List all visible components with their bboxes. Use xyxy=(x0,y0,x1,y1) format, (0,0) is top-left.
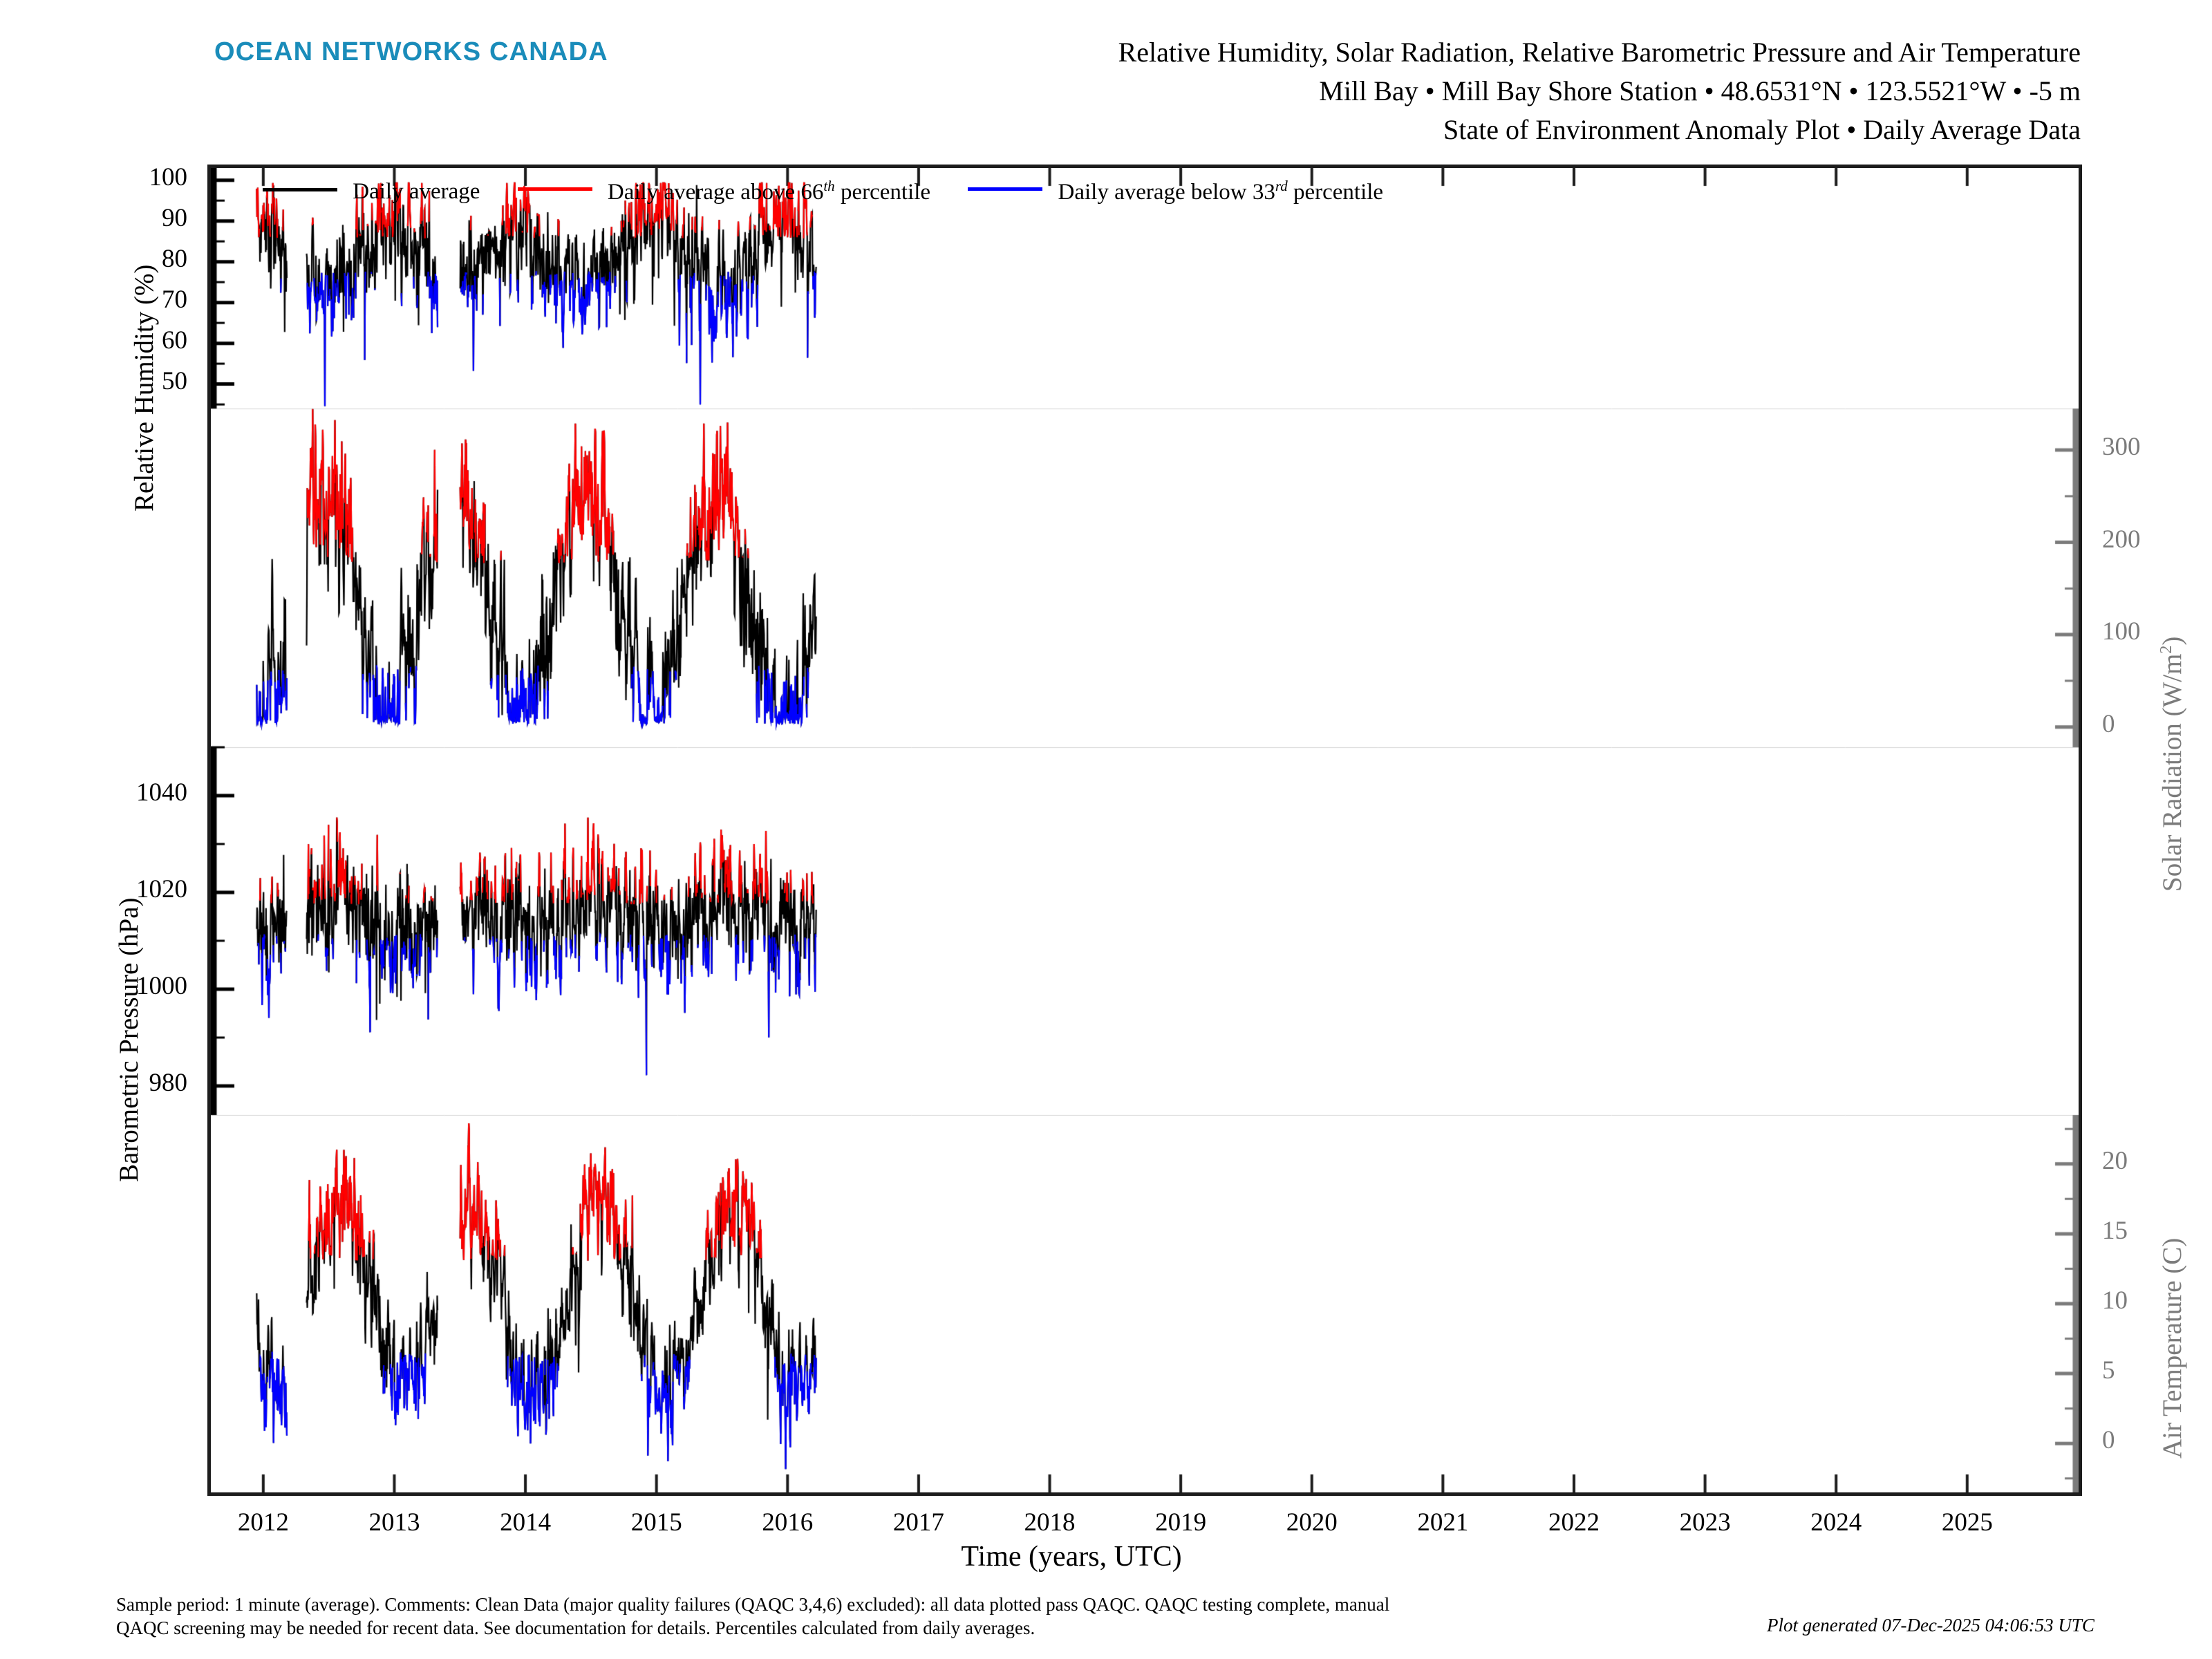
ytick-humidity-60: 60 xyxy=(0,326,187,355)
title-line-1: Relative Humidity, Solar Radiation, Rela… xyxy=(0,33,2081,72)
ytick-temperature-5: 5 xyxy=(2102,1356,2115,1385)
legend-entry-above-66: Daily average above 66th percentile xyxy=(518,177,930,205)
temperature-axis-title: Air Temperature (C) xyxy=(2157,1238,2188,1459)
xtick-2025: 2025 xyxy=(1912,1508,2023,1537)
ytick-humidity-50: 50 xyxy=(0,366,187,396)
xtick-2015: 2015 xyxy=(601,1508,712,1537)
x-axis-title: Time (years, UTC) xyxy=(0,1540,2143,1573)
xtick-2016: 2016 xyxy=(732,1508,843,1537)
xtick-2022: 2022 xyxy=(1519,1508,1629,1537)
xtick-2023: 2023 xyxy=(1650,1508,1761,1537)
legend-entry-daily-average: Daily average xyxy=(263,178,480,205)
plot-legend: Daily average Daily average above 66th p… xyxy=(263,177,1415,205)
xtick-2017: 2017 xyxy=(863,1508,974,1537)
plot-frame xyxy=(207,165,2082,1496)
ytick-humidity-70: 70 xyxy=(0,285,187,315)
xtick-2020: 2020 xyxy=(1257,1508,1367,1537)
legend-label-below-33: Daily average below 33rd percentile xyxy=(1058,178,1384,205)
ytick-pressure-1040: 1040 xyxy=(0,778,187,807)
footer-note-line-2: QAQC screening may be needed for recent … xyxy=(116,1616,1761,1640)
ytick-temperature-20: 20 xyxy=(2102,1146,2128,1176)
xtick-2021: 2021 xyxy=(1387,1508,1498,1537)
ytick-pressure-1020: 1020 xyxy=(0,874,187,904)
plot-canvas xyxy=(211,168,2079,1492)
xtick-2012: 2012 xyxy=(208,1508,319,1537)
legend-label-above-66: Daily average above 66th percentile xyxy=(608,178,930,205)
xtick-2013: 2013 xyxy=(339,1508,449,1537)
legend-entry-below-33: Daily average below 33rd percentile xyxy=(968,177,1383,205)
footer-note: Sample period: 1 minute (average). Comme… xyxy=(116,1593,1761,1640)
legend-swatch-black xyxy=(263,188,337,191)
solar-axis-title: Solar Radiation (W/m2) xyxy=(2157,637,2188,892)
ytick-solar-200: 200 xyxy=(2102,525,2141,554)
ytick-temperature-15: 15 xyxy=(2102,1216,2128,1246)
xtick-2024: 2024 xyxy=(1781,1508,1891,1537)
ytick-temperature-0: 0 xyxy=(2102,1425,2115,1455)
footer-note-line-1: Sample period: 1 minute (average). Comme… xyxy=(116,1593,1761,1616)
ytick-temperature-10: 10 xyxy=(2102,1286,2128,1315)
xtick-2014: 2014 xyxy=(470,1508,581,1537)
ytick-pressure-980: 980 xyxy=(0,1068,187,1098)
ytick-pressure-1000: 1000 xyxy=(0,971,187,1001)
ytick-solar-100: 100 xyxy=(2102,617,2141,646)
footer-generated-timestamp: Plot generated 07-Dec-2025 04:06:53 UTC xyxy=(1767,1615,2094,1636)
pressure-axis-title: Barometric Pressure (hPa) xyxy=(113,897,144,1182)
plot-title-block: Relative Humidity, Solar Radiation, Rela… xyxy=(0,33,2081,149)
legend-swatch-red xyxy=(518,187,592,191)
title-line-2: Mill Bay • Mill Bay Shore Station • 48.6… xyxy=(0,72,2081,111)
ytick-solar-0: 0 xyxy=(2102,709,2115,739)
ytick-humidity-90: 90 xyxy=(0,203,187,233)
ytick-solar-300: 300 xyxy=(2102,432,2141,462)
xtick-2019: 2019 xyxy=(1125,1508,1236,1537)
ytick-humidity-80: 80 xyxy=(0,244,187,274)
title-line-3: State of Environment Anomaly Plot • Dail… xyxy=(0,111,2081,149)
legend-swatch-blue xyxy=(968,187,1042,191)
legend-label-daily-average: Daily average xyxy=(353,179,480,205)
xtick-2018: 2018 xyxy=(995,1508,1105,1537)
ytick-humidity-100: 100 xyxy=(0,162,187,192)
